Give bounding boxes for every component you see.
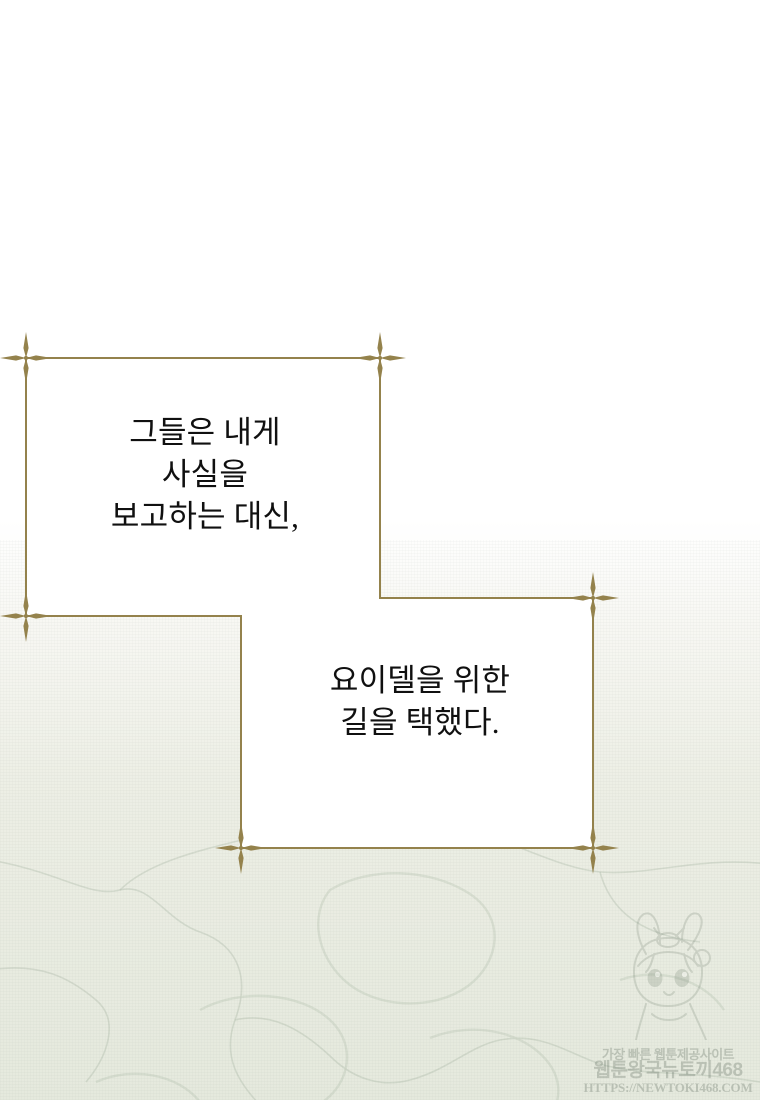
watermark-text-block: 가장 빠른 웹툰제공사이트 웹툰왕국뉴토끼468 HTTPS://NEWTOKI… <box>580 1048 756 1094</box>
watermark-url: HTTPS://NEWTOKI468.COM <box>580 1081 756 1094</box>
site-watermark: 가장 빠른 웹툰제공사이트 웹툰왕국뉴토끼468 HTTPS://NEWTOKI… <box>580 910 756 1098</box>
watermark-site-name: 웹툰왕국뉴토끼468 <box>580 1061 756 1080</box>
webtoon-page: 그들은 내게 사실을 보고하는 대신, 요이델을 위한 길을 택했다. <box>0 0 760 1100</box>
frame-line-mid-right <box>379 597 594 599</box>
rabbit-mascot-icon <box>588 910 748 1040</box>
frame-line-right-upper <box>379 357 381 598</box>
frame-line-left-lower <box>240 615 242 849</box>
frame-line-right-lower <box>592 597 594 849</box>
frame-line-left-upper <box>25 357 27 617</box>
dialogue-text-bottom: 요이델을 위한 길을 택했다. <box>250 660 590 744</box>
frame-line-mid-left <box>25 615 242 617</box>
frame-line-top <box>25 357 381 359</box>
frame-line-bottom <box>240 847 594 849</box>
dialogue-text-top: 그들은 내게 사실을 보고하는 대신, <box>35 412 375 538</box>
